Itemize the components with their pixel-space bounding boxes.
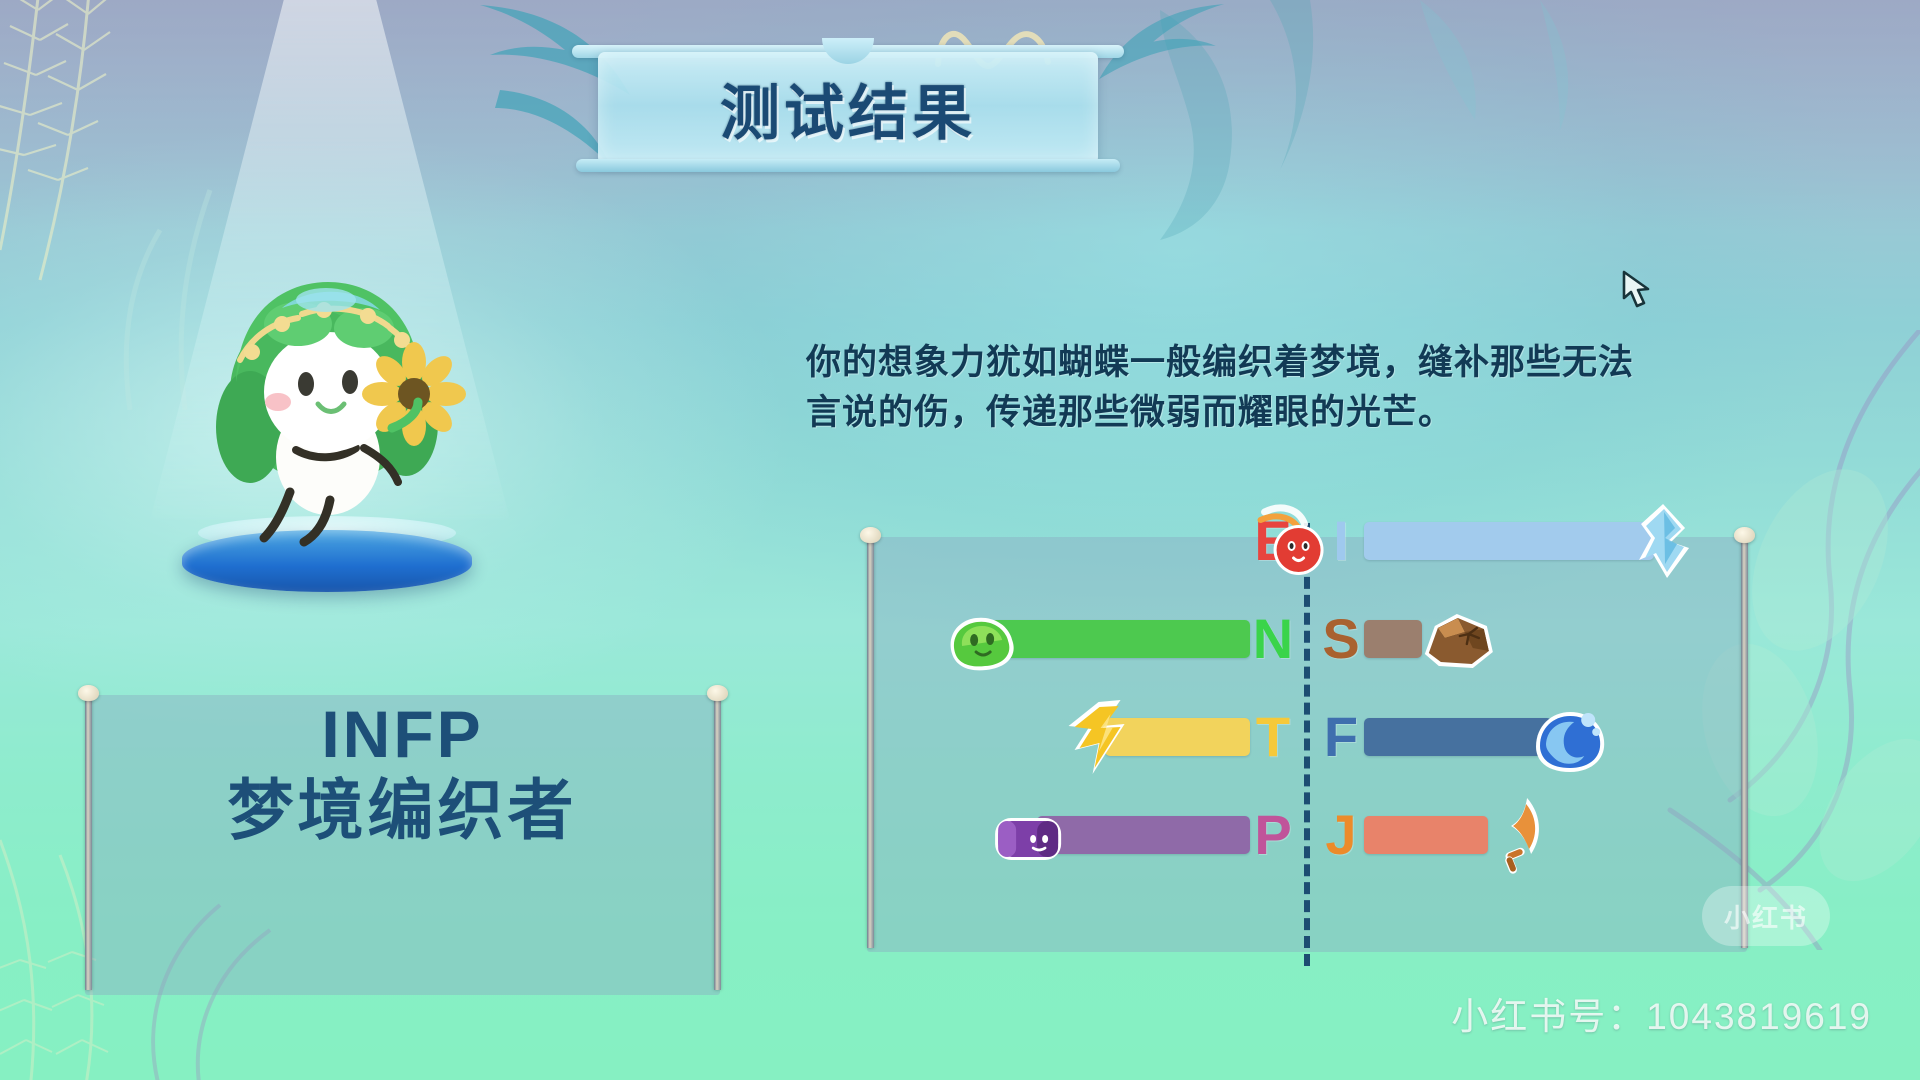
bar-track-n [867,620,1250,658]
mascot-avatar [178,252,478,552]
chart-half-right-i: I [1307,501,1747,581]
chart-half-left-e: E [867,501,1307,581]
description-line-1: 你的想象力犹如蝴蝶一般编织着梦境，缝补那些无法 [806,338,1846,388]
type-code: INFP [85,700,720,769]
bar-n [990,620,1250,658]
letter-t: T [1250,709,1296,765]
bar-track-s [1364,620,1747,658]
letter-n: N [1250,611,1296,667]
brown-rock-icon [1417,596,1503,682]
xiaohongshu-id-label: 小红书号： [1451,996,1646,1037]
chart-row-ei: E I [867,501,1747,581]
letter-f: F [1318,709,1364,765]
green-slime-icon [940,596,1026,682]
page-title: 测试结果 [598,52,1098,164]
xiaohongshu-id: 小红书号：1043819619 [1451,986,1872,1040]
xiaohongshu-badge: 小红书 [1702,886,1830,946]
bar-track-j [1364,816,1747,854]
type-result: INFP 梦境编织者 [85,700,720,852]
letter-j: J [1318,807,1364,863]
description-line-2: 言说的伤，传递那些微弱而耀眼的光芒。 [806,388,1846,438]
chart-row-pj: P J [867,795,1747,875]
chart-half-right-s: S [1307,599,1747,679]
chart-half-left-t: T [867,697,1307,777]
bar-track-p [867,816,1250,854]
result-description: 你的想象力犹如蝴蝶一般编织着梦境，缝补那些无法 言说的伤，传递那些微弱而耀眼的光… [806,338,1846,437]
bar-track-e [867,522,1250,560]
xiaohongshu-id-value: 1043819619 [1646,996,1872,1037]
chart-half-right-j: J [1307,795,1747,875]
ice-crystal-icon [1623,498,1709,584]
letter-s: S [1318,611,1364,667]
coral-decoration-top [1120,0,1680,330]
bar-track-t [867,718,1250,756]
purple-barrel-icon [987,792,1073,878]
blue-water-icon [1526,694,1612,780]
bar-track-f [1364,718,1747,756]
result-screen: 测试结果 你的想象力犹如蝴蝶一般编织着梦境，缝补那些无法 言说的伤，传递那些微弱… [0,0,1920,1080]
chart-row-ns: N S [867,599,1747,679]
mbti-dimension-chart: E I [867,537,1747,952]
orange-blade-icon [1469,792,1555,878]
yellow-lightning-icon [1059,694,1145,780]
letter-p: P [1250,807,1296,863]
type-name: 梦境编织者 [85,769,720,852]
bar-f [1364,718,1552,756]
arrow-hand-cursor [1616,268,1662,314]
bar-i [1364,522,1654,560]
chart-half-left-p: P [867,795,1307,875]
letter-i: I [1318,513,1364,569]
chart-half-right-f: F [1307,697,1747,777]
bar-s [1364,620,1422,658]
bar-track-i [1364,522,1747,560]
title-banner: 测试结果 [598,52,1098,164]
chart-half-left-n: N [867,599,1307,679]
chart-row-tf: T F [867,697,1747,777]
